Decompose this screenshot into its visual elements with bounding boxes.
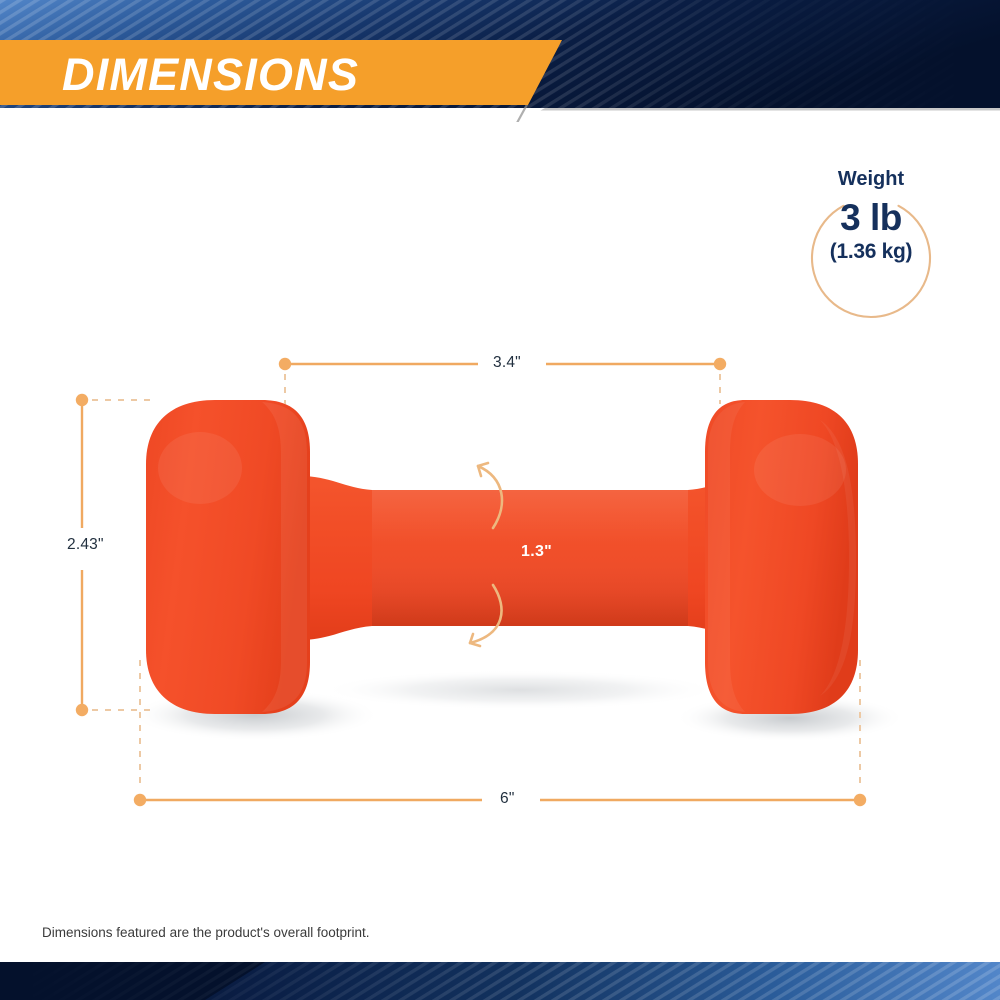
dimension-label-width: 3.4" xyxy=(484,355,530,371)
dimension-label-height: 2.43" xyxy=(63,535,108,555)
dimension-label-girth: 1.3" xyxy=(521,544,552,560)
footer-graphic xyxy=(0,962,1000,1000)
footnote-text: Dimensions featured are the product's ov… xyxy=(42,925,370,940)
dimension-label-length: 6" xyxy=(489,791,526,807)
dimension-height xyxy=(76,394,150,716)
dimensions-infographic: DIMENSIONS Weight 3 lb (1.36 kg) xyxy=(0,0,1000,1000)
product-dimension-stage: 3.4" 2.43" 6" 1.3" xyxy=(0,0,1000,1000)
page-title: DIMENSIONS xyxy=(62,52,359,97)
footer-banner xyxy=(0,962,1000,1000)
product-illustration xyxy=(0,0,1000,1000)
